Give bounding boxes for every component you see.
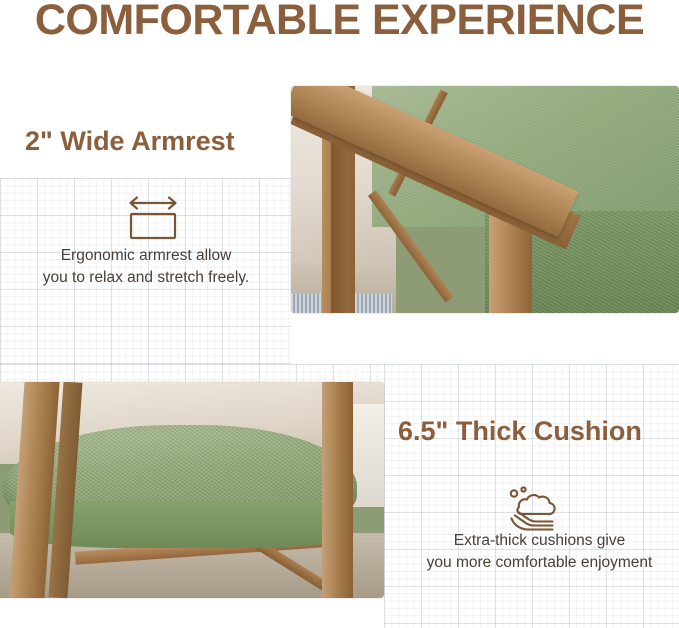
feature-description-line: you to relax and stretch freely. xyxy=(11,267,281,289)
hand-holding-cushion-icon xyxy=(502,484,566,536)
armrest-closeup-photo xyxy=(291,86,679,313)
feature-description-line: Ergonomic armrest allow xyxy=(11,245,281,267)
feature-description-cushion: Extra-thick cushions give you more comfo… xyxy=(400,530,679,574)
width-measure-icon xyxy=(121,192,185,244)
photo-right-post xyxy=(322,382,353,598)
page-title: COMFORTABLE EXPERIENCE xyxy=(0,0,679,45)
grid-background-middle xyxy=(0,364,384,382)
feature-description-armrest: Ergonomic armrest allow you to relax and… xyxy=(11,245,281,289)
feature-heading-cushion: 6.5" Thick Cushion xyxy=(398,416,642,447)
feature-description-line: you more comfortable enjoyment xyxy=(400,552,679,574)
feature-heading-armrest: 2" Wide Armrest xyxy=(25,126,235,157)
feature-description-line: Extra-thick cushions give xyxy=(400,530,679,552)
cushion-closeup-photo xyxy=(0,382,384,598)
photo-post-inner-shadow xyxy=(331,127,349,313)
